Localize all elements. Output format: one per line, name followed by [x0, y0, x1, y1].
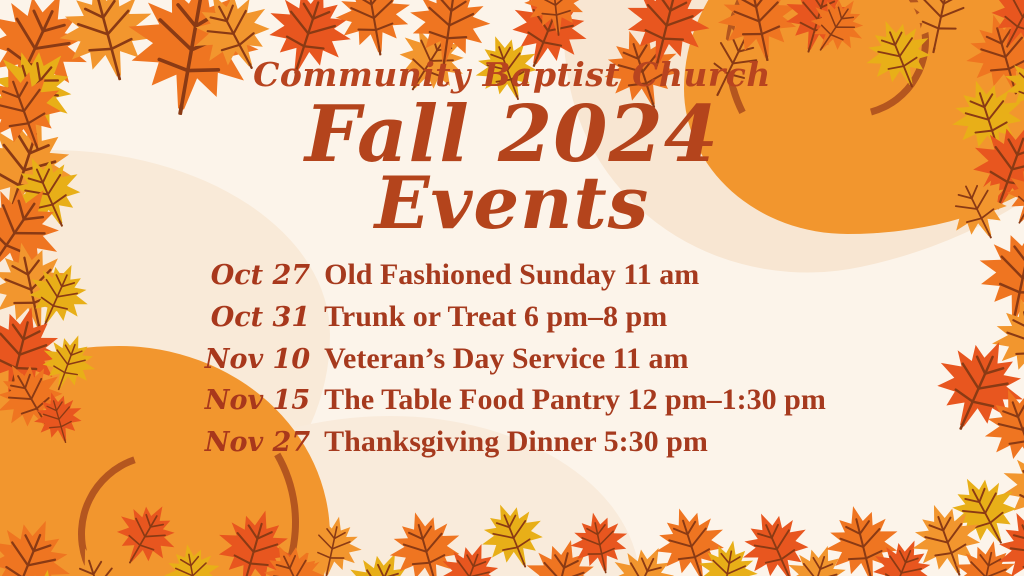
event-description: Veteran’s Day Service 11 am — [324, 339, 688, 379]
event-row: Oct 27Old Fashioned Sunday 11 am — [198, 255, 826, 295]
fall-events-flyer: Community Baptist Church Fall 2024 Event… — [0, 0, 1024, 576]
event-row: Oct 31Trunk or Treat 6 pm–8 pm — [198, 297, 826, 337]
event-description: The Table Food Pantry 12 pm–1:30 pm — [324, 380, 826, 420]
events-list: Oct 27Old Fashioned Sunday 11 amOct 31Tr… — [198, 255, 826, 461]
event-row: Nov 15The Table Food Pantry 12 pm–1:30 p… — [198, 380, 826, 420]
event-row: Nov 27Thanksgiving Dinner 5:30 pm — [198, 422, 826, 462]
event-date: Nov 27 — [198, 425, 324, 461]
event-date: Oct 31 — [198, 300, 324, 336]
event-date: Oct 27 — [198, 258, 324, 294]
event-row: Nov 10Veteran’s Day Service 11 am — [198, 339, 826, 379]
page-title-line2: Events — [375, 167, 650, 239]
flyer-content: Community Baptist Church Fall 2024 Event… — [0, 0, 1024, 576]
event-description: Trunk or Treat 6 pm–8 pm — [324, 297, 667, 337]
event-date: Nov 10 — [198, 342, 324, 378]
event-description: Old Fashioned Sunday 11 am — [324, 255, 699, 295]
event-description: Thanksgiving Dinner 5:30 pm — [324, 422, 708, 462]
event-date: Nov 15 — [198, 383, 324, 419]
church-name: Community Baptist Church — [253, 58, 771, 91]
